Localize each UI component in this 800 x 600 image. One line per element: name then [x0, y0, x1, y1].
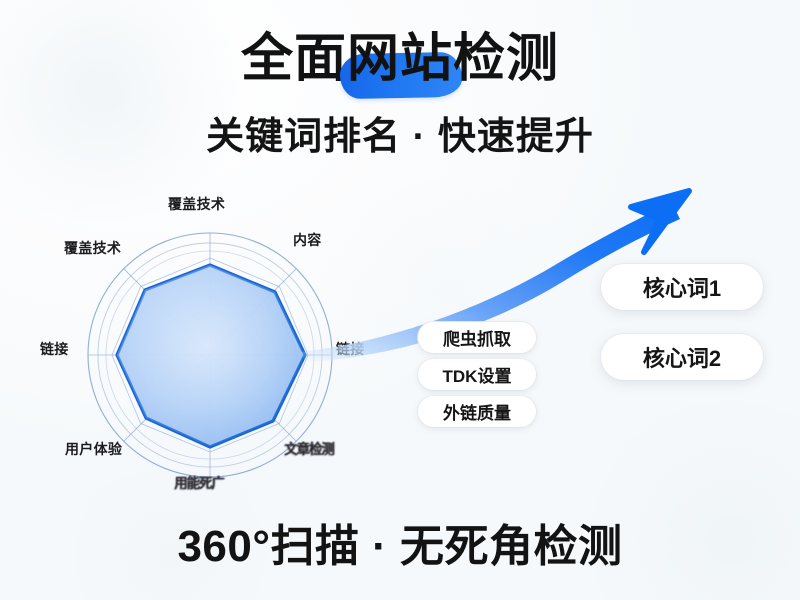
sub-headline: 关键词排名 · 快速提升 — [0, 118, 800, 156]
chip-crawl[interactable]: 爬虫抓取 — [418, 322, 536, 353]
headline-text-after: 检测 — [453, 30, 559, 88]
arrow-head — [631, 191, 689, 252]
radar-label-top-left: 覆盖技术 — [64, 238, 121, 258]
radar-chart: 覆盖技术 内容 链接 文章检测 用能死广 用户体验 链接 覆盖技术 — [40, 190, 380, 510]
radar-label-bottom-right: 文章检测 — [284, 439, 333, 459]
keyword-card-1-label: 核心词1 — [643, 271, 721, 303]
keyword-card-1[interactable]: 核心词1 — [601, 264, 763, 310]
poster-canvas: 全面网站检测 关键词排名 · 快速提升 — [0, 0, 800, 600]
radar-label-left: 链接 — [40, 339, 69, 359]
footer-headline: 360°扫描 · 无死角检测 — [0, 525, 800, 569]
headline-text-before: 全面 — [241, 30, 347, 88]
keyword-card-2[interactable]: 核心词2 — [601, 334, 763, 380]
radar-label-top: 覆盖技术 — [168, 194, 225, 214]
radar-label-bottom-left: 用户体验 — [65, 439, 122, 459]
chip-tdk-label: TDK设置 — [443, 362, 512, 387]
chip-crawl-label: 爬虫抓取 — [443, 325, 511, 350]
radar-label-top-right: 内容 — [293, 230, 322, 250]
headline-highlight-text: 网站 — [347, 33, 453, 85]
radar-label-bottom: 用能死广 — [174, 473, 223, 493]
radar-label-right: 链接 — [336, 339, 365, 359]
chip-external-link-quality-label: 外链质量 — [443, 399, 511, 424]
chip-tdk[interactable]: TDK设置 — [418, 359, 536, 390]
main-headline: 全面网站检测 — [0, 33, 800, 85]
keyword-card-2-label: 核心词2 — [643, 341, 721, 373]
chip-external-link-quality[interactable]: 外链质量 — [418, 396, 536, 427]
